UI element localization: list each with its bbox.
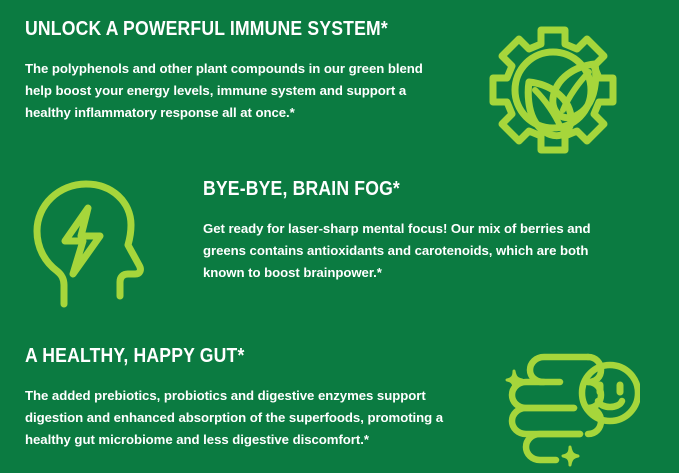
benefit-copy-brain: BYE-BYE, BRAIN FOG* Get ready for laser-…	[203, 178, 673, 284]
benefit-body-immune: The polyphenols and other plant compound…	[25, 58, 440, 124]
benefit-icon-block-immune	[440, 18, 665, 162]
benefit-copy-gut: A HEALTHY, HAPPY GUT* The added prebioti…	[0, 345, 470, 451]
head-lightning-icon	[28, 178, 154, 308]
benefit-copy-immune: UNLOCK A POWERFUL IMMUNE SYSTEM* The pol…	[0, 18, 440, 124]
gear-leaf-icon	[483, 22, 623, 162]
benefit-icon-block-brain	[0, 178, 203, 308]
benefit-heading-brain: BYE-BYE, BRAIN FOG*	[203, 178, 617, 200]
benefit-section-immune: UNLOCK A POWERFUL IMMUNE SYSTEM* The pol…	[0, 18, 679, 162]
benefit-heading-immune: UNLOCK A POWERFUL IMMUNE SYSTEM*	[25, 18, 390, 40]
benefit-icon-block-gut	[470, 345, 670, 471]
benefit-section-gut: A HEALTHY, HAPPY GUT* The added prebioti…	[0, 345, 679, 471]
benefit-heading-gut: A HEALTHY, HAPPY GUT*	[25, 345, 417, 367]
benefit-body-gut: The added prebiotics, probiotics and dig…	[25, 385, 461, 451]
benefits-panel: UNLOCK A POWERFUL IMMUNE SYSTEM* The pol…	[0, 0, 679, 473]
intestine-smiley-icon	[500, 351, 640, 471]
benefit-body-brain: Get ready for laser-sharp mental focus! …	[203, 218, 623, 284]
benefit-section-brain: BYE-BYE, BRAIN FOG* Get ready for laser-…	[0, 178, 679, 308]
